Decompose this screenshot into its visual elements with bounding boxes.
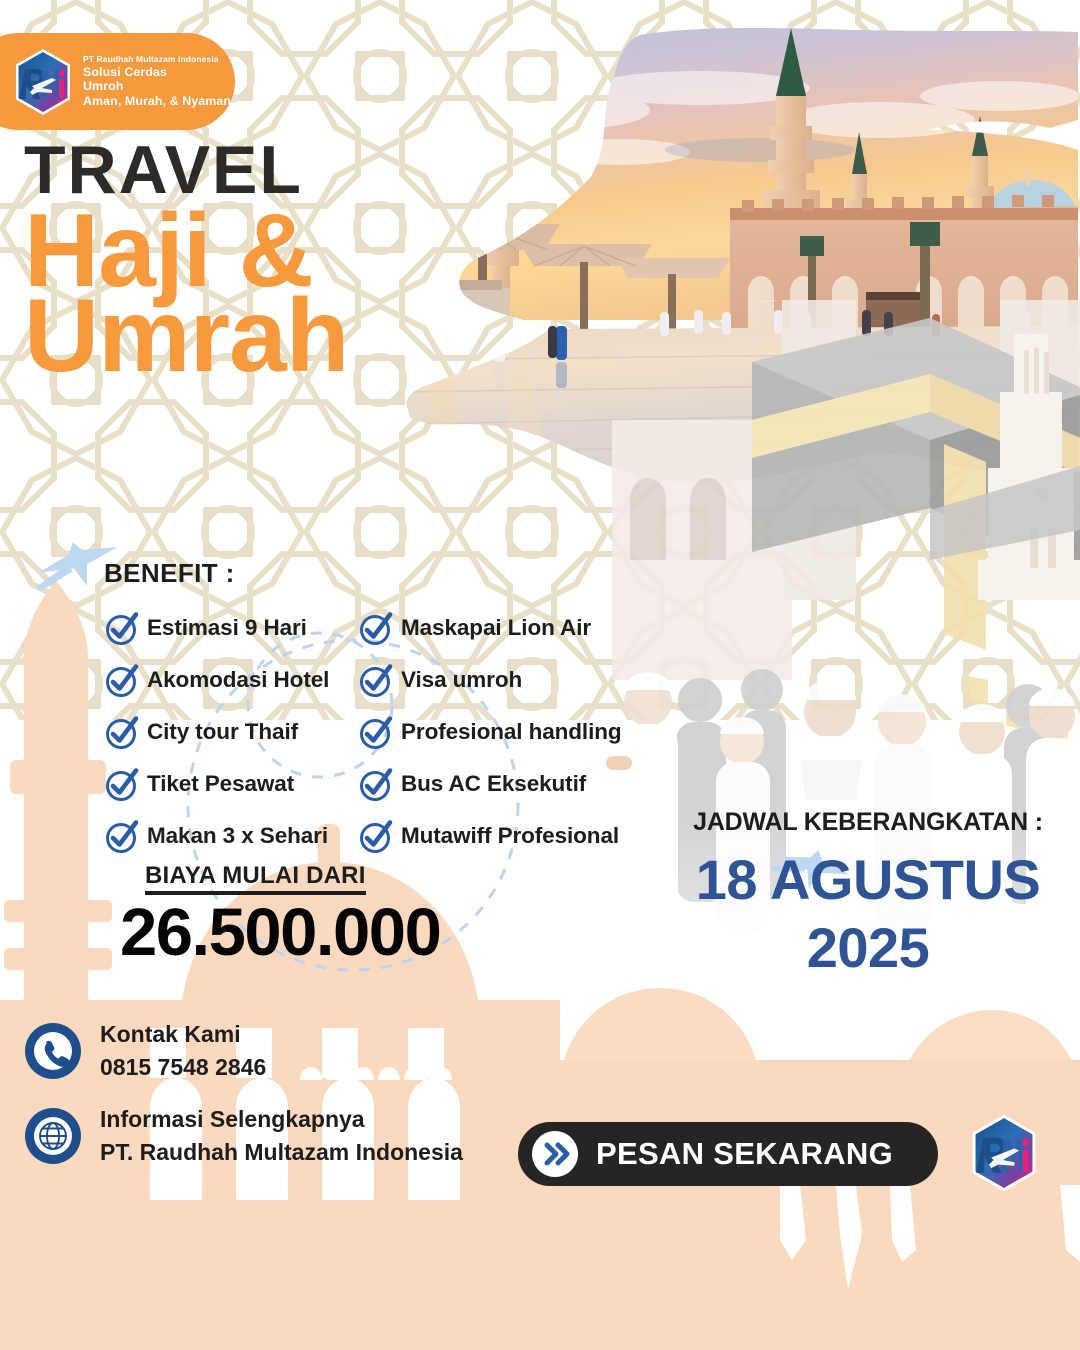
contact-info-row[interactable]: Informasi Selengkapnya PT. Raudhah Multa… — [24, 1105, 463, 1168]
schedule-year: 2025 — [668, 917, 1068, 979]
order-now-label: PESAN SEKARANG — [596, 1136, 893, 1172]
benefit-item: Akomodasi Hotel — [104, 654, 354, 706]
brand-logo-text: PT Raudhah Multazam Indonesia Solusi Cer… — [83, 55, 231, 108]
check-circle-icon — [358, 818, 394, 854]
benefits-grid: Estimasi 9 Hari Maskapai Lion Air Akomod… — [104, 602, 622, 862]
price-section: BIAYA MULAI DARI 26.500.000 — [145, 862, 440, 967]
benefit-item: Tiket Pesawat — [104, 758, 354, 810]
benefit-label: Akomodasi Hotel — [147, 667, 329, 693]
page-title: TRAVEL Haji & Umrah — [24, 138, 348, 379]
schedule-section: JADWAL KEBERANGKATAN : 18 AGUSTUS 2025 — [668, 808, 1068, 978]
benefit-label: Bus AC Eksekutif — [401, 771, 586, 797]
brand-tagline-2: Umroh — [83, 79, 231, 94]
poster-root: PT Raudhah Multazam Indonesia Solusi Cer… — [0, 0, 1080, 1350]
benefit-label: Estimasi 9 Hari — [147, 615, 307, 641]
benefits-heading: BENEFIT : — [104, 558, 622, 589]
price-label: BIAYA MULAI DARI — [145, 862, 366, 895]
benefit-item: City tour Thaif — [104, 706, 354, 758]
check-circle-icon — [358, 766, 394, 802]
phone-icon — [24, 1022, 82, 1080]
contact-phone-number[interactable]: 0815 7548 2846 — [100, 1053, 266, 1082]
schedule-heading: JADWAL KEBERANGKATAN : — [668, 808, 1068, 837]
check-circle-icon — [104, 818, 140, 854]
check-circle-icon — [358, 714, 394, 750]
contact-info-text: Informasi Selengkapnya PT. Raudhah Multa… — [100, 1105, 463, 1168]
benefit-item: Profesional handling — [358, 706, 622, 758]
benefit-label: Makan 3 x Sehari — [147, 823, 328, 849]
price-value: 26.500.000 — [120, 899, 440, 967]
benefit-item: Bus AC Eksekutif — [358, 758, 622, 810]
double-chevron-right-icon — [532, 1131, 578, 1177]
benefit-item: Makan 3 x Sehari — [104, 810, 354, 862]
benefit-label: Profesional handling — [401, 719, 622, 745]
contact-phone-text: Kontak Kami 0815 7548 2846 — [100, 1020, 266, 1083]
contact-company-name: PT. Raudhah Multazam Indonesia — [100, 1138, 463, 1167]
order-now-button[interactable]: PESAN SEKARANG — [518, 1122, 938, 1186]
benefit-item: Mutawiff Profesional — [358, 810, 622, 862]
check-circle-icon — [104, 610, 140, 646]
rmi-logo-icon — [12, 48, 74, 116]
check-circle-icon — [358, 610, 394, 646]
contact-phone-row[interactable]: Kontak Kami 0815 7548 2846 — [24, 1020, 266, 1083]
brand-company-line: PT Raudhah Multazam Indonesia — [83, 55, 231, 65]
check-circle-icon — [358, 662, 394, 698]
benefit-item: Visa umroh — [358, 654, 622, 706]
check-circle-icon — [104, 766, 140, 802]
benefit-label: City tour Thaif — [147, 719, 298, 745]
benefits-section: BENEFIT : Estimasi 9 Hari Maskapai Lion … — [104, 558, 622, 862]
benefit-label: Maskapai Lion Air — [401, 615, 591, 641]
benefit-label: Mutawiff Profesional — [401, 823, 619, 849]
brand-tagline-3: Aman, Murah, & Nyaman — [83, 94, 231, 109]
benefit-item: Maskapai Lion Air — [358, 602, 622, 654]
brand-tagline-1: Solusi Cerdas — [83, 65, 231, 80]
benefit-item: Estimasi 9 Hari — [104, 602, 354, 654]
brand-logo-badge[interactable]: PT Raudhah Multazam Indonesia Solusi Cer… — [0, 33, 235, 130]
benefit-label: Tiket Pesawat — [147, 771, 294, 797]
contact-info-label: Informasi Selengkapnya — [100, 1105, 463, 1134]
contact-phone-label: Kontak Kami — [100, 1020, 266, 1049]
check-circle-icon — [104, 714, 140, 750]
headline-umrah: Umrah — [24, 294, 348, 379]
globe-icon — [24, 1107, 82, 1165]
rmi-logo-footer-icon — [968, 1113, 1040, 1193]
schedule-date: 18 AGUSTUS — [668, 849, 1068, 911]
check-circle-icon — [104, 662, 140, 698]
benefit-label: Visa umroh — [401, 667, 522, 693]
